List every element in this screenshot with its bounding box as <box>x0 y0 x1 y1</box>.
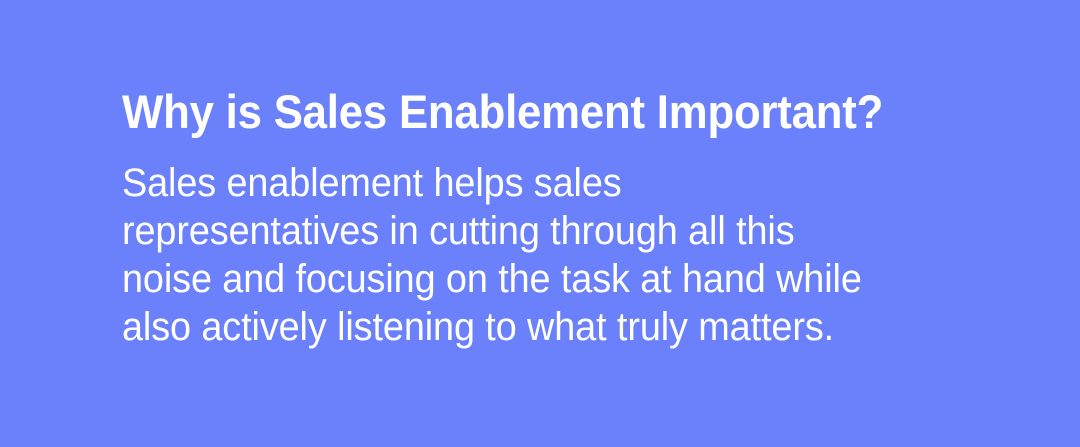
card-content: Why is Sales Enablement Important? Sales… <box>122 84 1022 351</box>
body-line: also actively listening to what truly ma… <box>122 303 973 351</box>
page-title: Why is Sales Enablement Important? <box>122 84 959 140</box>
body-line: Sales enablement helps sales <box>122 159 973 207</box>
body-paragraph: Sales enablement helps sales representat… <box>122 140 973 351</box>
content-card: Why is Sales Enablement Important? Sales… <box>0 0 1080 447</box>
body-line: noise and focusing on the task at hand w… <box>122 255 973 303</box>
body-line: representatives in cutting through all t… <box>122 207 973 255</box>
